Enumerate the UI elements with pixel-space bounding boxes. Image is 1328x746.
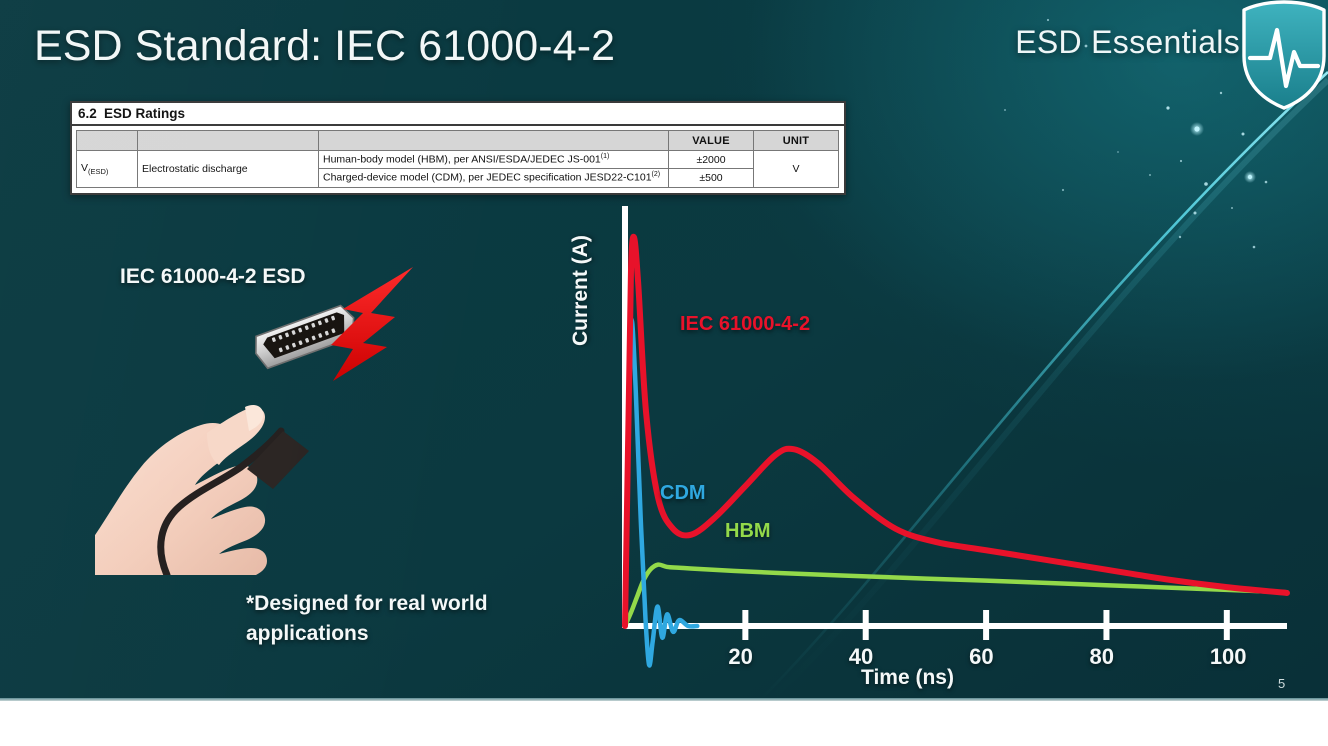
table-section-number: 6.2	[78, 106, 104, 121]
chart-x-tick-label: 100	[1210, 644, 1247, 670]
page-title: ESD Standard: IEC 61000-4-2	[34, 22, 615, 71]
symbol-subscript: (ESD)	[88, 167, 108, 176]
chart-series-paths	[625, 237, 1287, 666]
chart-x-tick-label: 80	[1089, 644, 1113, 670]
cell-unit: V	[754, 151, 839, 188]
table-header-symbol	[77, 131, 138, 151]
slide-background: ESD Standard: IEC 61000-4-2 ESD Essentia…	[0, 0, 1328, 700]
cell-symbol: V(ESD)	[77, 151, 138, 188]
table-header-row: VALUE UNIT	[77, 131, 839, 151]
desc-footnote-cdm: (2)	[652, 171, 661, 178]
table-row: V(ESD) Electrostatic discharge Human-bod…	[77, 151, 839, 169]
brand-label: ESD Essentials	[1015, 24, 1240, 61]
table-section-title: ESD Ratings	[104, 106, 185, 121]
series-label-hbm: HBM	[725, 520, 771, 543]
symbol-main: V	[81, 162, 88, 174]
chart-plot-area	[575, 196, 1315, 696]
chart-x-tick-label: 60	[969, 644, 993, 670]
series-label-cdm: CDM	[660, 482, 706, 505]
chart-series-hbm	[625, 565, 1287, 626]
table-header-parameter	[138, 131, 319, 151]
page-number: 5	[1278, 676, 1285, 691]
hand-hdmi-esd-icon	[95, 255, 435, 575]
series-label-iec: IEC 61000-4-2	[680, 313, 810, 336]
cell-parameter: Electrostatic discharge	[138, 151, 319, 188]
cell-value-cdm: ±500	[669, 169, 754, 187]
desc-text-cdm: Charged-device model (CDM), per JEDEC sp…	[323, 172, 652, 184]
chart-x-tick-label: 40	[849, 644, 873, 670]
cell-value-hbm: ±2000	[669, 151, 754, 169]
table-header-unit: UNIT	[754, 131, 839, 151]
esd-ratings-table: 6.2ESD Ratings VALUE UNIT V(ESD) Electr	[70, 101, 846, 195]
table-section-heading: 6.2ESD Ratings	[72, 103, 844, 126]
table-header-description	[319, 131, 669, 151]
cell-description-hbm: Human-body model (HBM), per ANSI/ESDA/JE…	[319, 151, 669, 169]
note-text: *Designed for real world applications	[246, 589, 546, 649]
footer-bar: TEXAS INSTRUMENTS	[0, 701, 1328, 746]
esd-waveform-chart: Current (A) Time (ns) 20406080100 IEC 61…	[575, 196, 1315, 696]
chart-x-tick-label: 20	[728, 644, 752, 670]
desc-text-hbm: Human-body model (HBM), per ANSI/ESDA/JE…	[323, 154, 601, 166]
chart-series-iec-61000-4-2	[625, 237, 1287, 626]
desc-footnote-hbm: (1)	[601, 153, 610, 160]
cell-description-cdm: Charged-device model (CDM), per JEDEC sp…	[319, 169, 669, 187]
slide-root: ESD Standard: IEC 61000-4-2 ESD Essentia…	[0, 0, 1328, 746]
table-header-value: VALUE	[669, 131, 754, 151]
shield-pulse-icon	[1236, 0, 1328, 114]
